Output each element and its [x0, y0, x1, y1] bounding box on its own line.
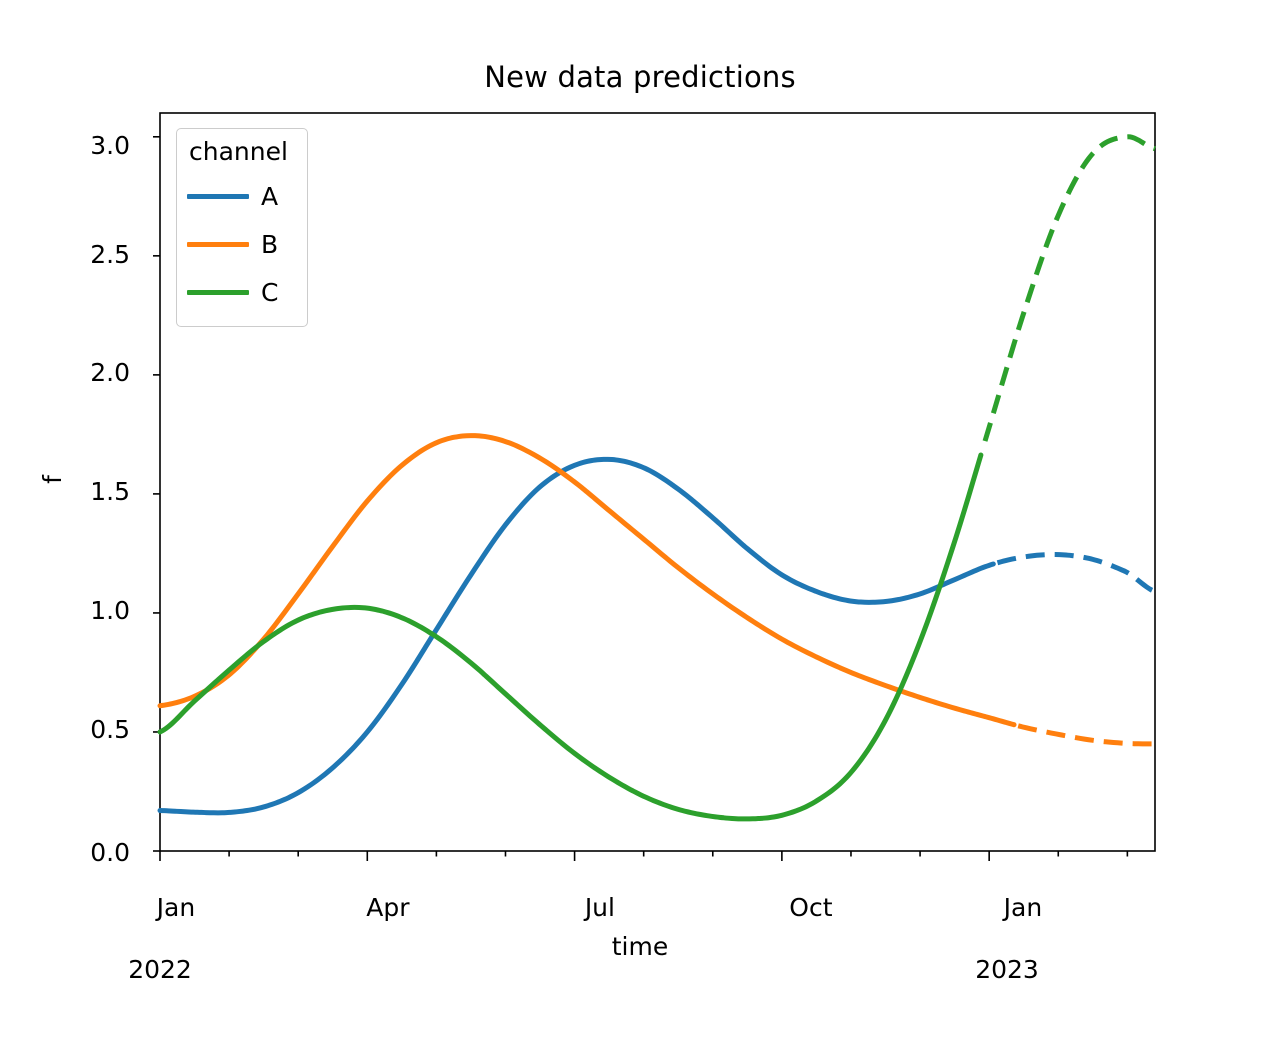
legend: channel A B C [176, 128, 308, 327]
xtick-month: Jan [157, 893, 196, 922]
xtick-month: Jan [1004, 893, 1043, 922]
legend-entry-a[interactable]: A [187, 172, 297, 220]
legend-swatch-c [187, 290, 249, 295]
figure-canvas: New data predictions 0.0 0.5 1.0 1.5 2.0… [0, 0, 1280, 960]
legend-swatch-a [187, 194, 249, 199]
ytick-label: 0.0 [40, 838, 130, 867]
xtick-month: Jul [585, 893, 615, 922]
legend-swatch-b [187, 242, 249, 247]
legend-entry-b[interactable]: B [187, 220, 297, 268]
ytick-label: 0.5 [40, 715, 130, 744]
ytick-label: 2.0 [40, 358, 130, 387]
legend-title: channel [187, 137, 297, 166]
ytick-label: 3.0 [40, 131, 130, 160]
legend-entry-c[interactable]: C [187, 268, 297, 316]
axes-frame [160, 113, 1155, 851]
legend-label-c: C [261, 278, 278, 307]
x-axis-label: time [0, 932, 1280, 961]
legend-label-b: B [261, 230, 278, 259]
xtick-month: Oct [789, 893, 832, 922]
ytick-label: 1.0 [40, 596, 130, 625]
y-axis-label: f [38, 475, 67, 484]
ytick-label: 2.5 [40, 240, 130, 269]
xtick-month: Apr [366, 893, 409, 922]
legend-label-a: A [261, 182, 278, 211]
